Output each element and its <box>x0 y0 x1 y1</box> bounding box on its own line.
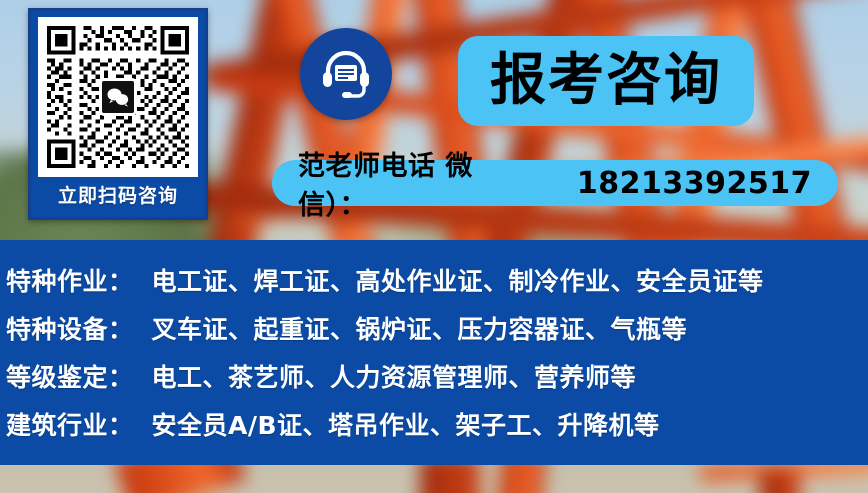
category-content: 电工、茶艺师、人力资源管理师、营养师等 <box>152 354 637 402</box>
consult-title-pill: 报考咨询 <box>458 36 754 126</box>
support-badge[interactable] <box>300 28 392 120</box>
headset-support-icon <box>317 45 375 103</box>
category-label: 建筑行业： <box>6 402 134 450</box>
category-row: 特种设备： 叉车证、起重证、锅炉证、压力容器证、气瓶等 <box>6 306 868 354</box>
category-label: 特种作业： <box>6 258 134 306</box>
wechat-icon <box>99 78 137 116</box>
consult-title-text: 报考咨询 <box>490 53 722 109</box>
category-content: 叉车证、起重证、锅炉证、压力容器证、气瓶等 <box>152 306 688 354</box>
category-content: 安全员A/B证、塔吊作业、架子工、升降机等 <box>152 402 660 450</box>
qr-code-frame <box>38 17 198 177</box>
category-content: 电工证、焊工证、高处作业证、制冷作业、安全员证等 <box>152 258 764 306</box>
qr-card-caption: 立即扫码咨询 <box>31 181 205 208</box>
contact-label: 范老师电话 微信）： <box>298 144 529 222</box>
contact-phone-pill[interactable]: 范老师电话 微信）： 18213392517 <box>272 160 838 206</box>
category-row: 等级鉴定： 电工、茶艺师、人力资源管理师、营养师等 <box>6 354 868 402</box>
category-row: 建筑行业： 安全员A/B证、塔吊作业、架子工、升降机等 <box>6 402 868 450</box>
contact-phone-number[interactable]: 18213392517 <box>577 166 812 201</box>
category-row: 特种作业： 电工证、焊工证、高处作业证、制冷作业、安全员证等 <box>6 258 868 306</box>
category-label: 特种设备： <box>6 306 134 354</box>
crane-lower-beam <box>760 470 800 493</box>
certificate-categories-banner: 特种作业： 电工证、焊工证、高处作业证、制冷作业、安全员证等 特种设备： 叉车证… <box>0 240 868 465</box>
qr-code-card[interactable]: 立即扫码咨询 <box>28 8 208 220</box>
qr-code-image <box>43 22 193 172</box>
wechat-glyph <box>106 87 130 107</box>
promo-poster: 立即扫码咨询 报考咨询 范老师电话 微信）： 18213392517 特种作业：… <box>0 0 868 493</box>
category-label: 等级鉴定： <box>6 354 134 402</box>
